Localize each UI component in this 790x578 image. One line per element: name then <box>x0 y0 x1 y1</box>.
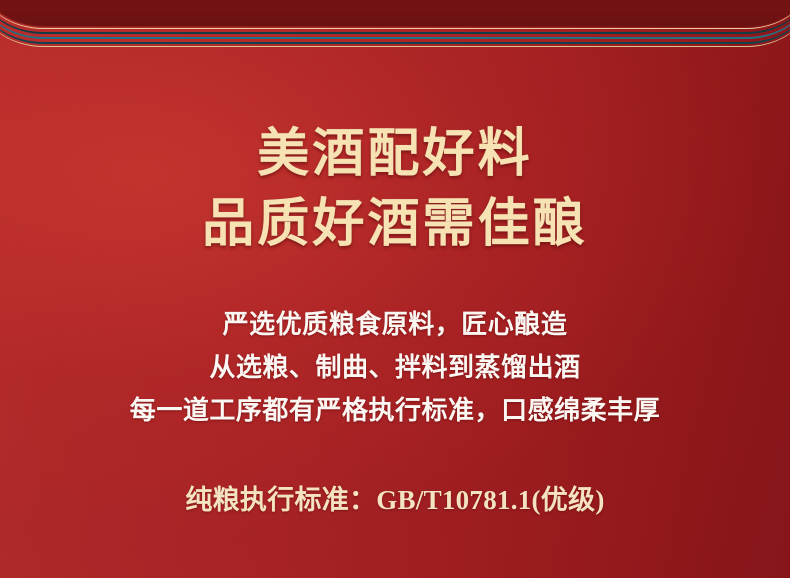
headline-line-2: 品质好酒需佳酿 <box>0 192 790 258</box>
headline-block: 美酒配好料 品质好酒需佳酿 <box>0 122 790 258</box>
headline-line-1: 美酒配好料 <box>0 122 790 188</box>
top-banner-bar <box>0 0 790 26</box>
body-copy-line-3: 每一道工序都有严格执行标准，口感绵柔丰厚 <box>0 389 790 432</box>
promo-banner: 美酒配好料 品质好酒需佳酿 严选优质粮食原料，匠心酿造 从选粮、制曲、拌料到蒸馏… <box>0 0 790 578</box>
execution-standard-text: 纯粮执行标准：GB/T10781.1(优级) <box>185 485 604 515</box>
body-copy-line-2: 从选粮、制曲、拌料到蒸馏出酒 <box>0 346 790 389</box>
standard-block: 纯粮执行标准：GB/T10781.1(优级) <box>0 481 790 519</box>
body-copy-line-1: 严选优质粮食原料，匠心酿造 <box>0 303 790 346</box>
body-copy-block: 严选优质粮食原料，匠心酿造 从选粮、制曲、拌料到蒸馏出酒 每一道工序都有严格执行… <box>0 303 790 432</box>
